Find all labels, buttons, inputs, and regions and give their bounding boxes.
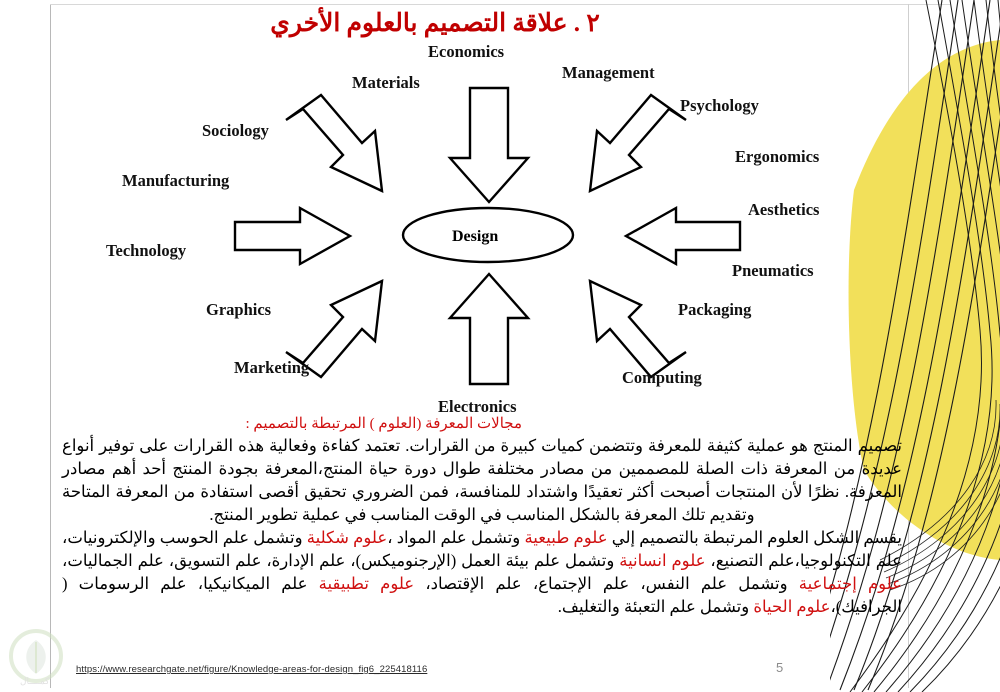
diagram-label-economics: Economics bbox=[428, 44, 504, 61]
section-subheading: مجالات المعرفة (العلوم ) المرتبطة بالتصم… bbox=[62, 414, 902, 434]
diagram-label-aesthetics: Aesthetics bbox=[748, 202, 819, 219]
diagram-label-materials: Materials bbox=[352, 75, 420, 92]
arrow-upper-right bbox=[590, 95, 686, 191]
highlighted-term: علوم انسانية bbox=[619, 551, 705, 570]
body-run: وتشمل علم بيئة العمل (الإرجنوميكس)، علم … bbox=[62, 551, 619, 570]
diagram-label-computing: Computing bbox=[622, 370, 702, 387]
highlighted-term: علوم إجتماعية bbox=[799, 574, 902, 593]
body-text-block: مجالات المعرفة (العلوم ) المرتبطة بالتصم… bbox=[62, 414, 902, 618]
page-border-left bbox=[50, 4, 51, 688]
arrow-upper-left bbox=[286, 95, 382, 191]
arrow-lower-right bbox=[590, 281, 686, 377]
diagram-label-sociology: Sociology bbox=[202, 123, 269, 140]
slide-canvas: ٢ . علاقة التصميم بالعلوم الأخري bbox=[0, 0, 1000, 692]
highlighted-term: علوم شكلية bbox=[307, 528, 387, 547]
arrow-bottom bbox=[450, 274, 528, 384]
paragraph-one: تصميم المنتج هو عملية كثيفة للمعرفة وتتض… bbox=[62, 435, 902, 526]
diagram-label-psychology: Psychology bbox=[680, 98, 759, 115]
source-link[interactable]: https://www.researchgate.net/figure/Know… bbox=[76, 664, 427, 675]
diagram-center-label: Design bbox=[452, 228, 498, 246]
diagram-label-pneumatics: Pneumatics bbox=[732, 263, 814, 280]
watermark-logo: كمــــال bbox=[2, 628, 94, 690]
knowledge-areas-diagram: Design Economics Materials Management Ps… bbox=[60, 36, 880, 426]
diagram-label-marketing: Marketing bbox=[234, 360, 309, 377]
arrow-top bbox=[450, 88, 528, 202]
diagram-label-ergonomics: Ergonomics bbox=[735, 149, 819, 166]
body-run: تصميم المنتج هو عملية كثيفة للمعرفة وتتض… bbox=[62, 436, 902, 523]
diagram-label-management: Management bbox=[562, 65, 655, 82]
arrow-right bbox=[626, 208, 740, 264]
body-run: وتشمل علم التعبئة والتغليف. bbox=[558, 597, 754, 616]
diagram-label-manufacturing: Manufacturing bbox=[122, 173, 229, 190]
paragraph-two: يقسم الشكل العلوم المرتبطة بالتصميم إلي … bbox=[62, 527, 902, 618]
arrow-left bbox=[235, 208, 350, 264]
highlighted-term: علوم طبيعية bbox=[524, 528, 607, 547]
diagram-label-graphics: Graphics bbox=[206, 302, 271, 319]
body-run: يقسم الشكل العلوم المرتبطة بالتصميم إلي bbox=[608, 528, 902, 547]
body-run: وتشمل علم المواد ، bbox=[387, 528, 524, 547]
highlighted-term: علوم تطبيقية bbox=[319, 574, 414, 593]
body-run: وتشمل علم النفس، علم الإجتماع، علم الإقت… bbox=[414, 574, 799, 593]
diagram-label-technology: Technology bbox=[106, 243, 186, 260]
highlighted-term: علوم الحياة bbox=[753, 597, 830, 616]
page-border-top bbox=[50, 4, 950, 5]
diagram-label-packaging: Packaging bbox=[678, 302, 751, 319]
page-border-right bbox=[908, 4, 909, 688]
svg-text:كمــــال: كمــــال bbox=[20, 676, 50, 686]
page-number: 5 bbox=[776, 660, 783, 675]
page-title: ٢ . علاقة التصميم بالعلوم الأخري bbox=[0, 8, 870, 38]
